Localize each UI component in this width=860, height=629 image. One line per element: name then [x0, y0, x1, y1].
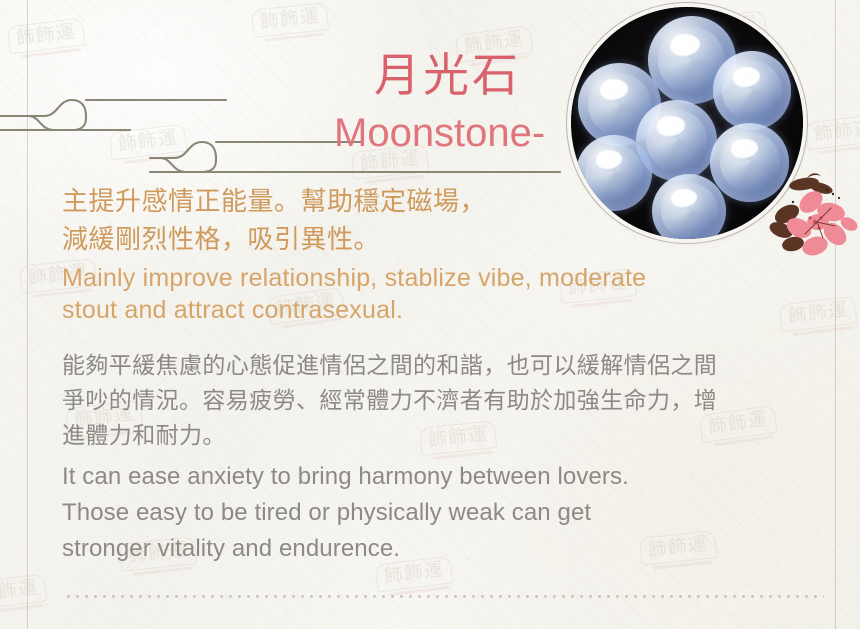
body-text-chinese: 能夠平緩焦慮的心態促進情侶之間的和諧，也可以緩解情侶之間 爭吵的情況。容易疲勞、…: [62, 349, 814, 454]
body-text-english: It can ease anxiety to bring harmony bet…: [62, 459, 822, 567]
body-zh-line-3: 進體力和耐力。: [62, 419, 814, 454]
cherry-blossom-decoration-icon: [763, 172, 859, 260]
watermark-logo: 飾飾運: [7, 17, 86, 54]
lead-en-line-2: stout and attract contrasexual.: [62, 294, 802, 326]
watermark-logo: 飾飾運: [0, 573, 47, 610]
product-info-card: 飾飾運 飾飾運 飾飾運 飾飾運 飾飾運 飾飾運 飾飾運 飾飾運 飾飾運 飾飾運 …: [0, 0, 860, 629]
body-zh-line-1: 能夠平緩焦慮的心態促進情侶之間的和諧，也可以緩解情侶之間: [62, 349, 814, 384]
page-title-chinese: 月光石: [374, 52, 521, 98]
body-en-line-3: stronger vitality and endurence.: [62, 531, 822, 567]
page-title-english: Moonstone-: [334, 113, 545, 153]
moonstone-bead: [713, 51, 792, 130]
body-zh-line-2: 爭吵的情況。容易疲勞、經常體力不濟者有助於加強生命力，增: [62, 384, 814, 419]
lead-en-line-1: Mainly improve relationship, stablize vi…: [62, 262, 802, 294]
lead-zh-line-1: 主提升感情正能量。幫助穩定磁場，: [62, 183, 762, 221]
lead-zh-line-2: 減緩剛烈性格，吸引異性。: [62, 221, 762, 259]
lead-text-english: Mainly improve relationship, stablize vi…: [62, 262, 802, 326]
watermark-logo: 飾飾運: [805, 113, 860, 150]
body-en-line-2: Those easy to be tired or physically wea…: [62, 495, 822, 531]
right-margin-rule: [835, 0, 836, 629]
body-en-line-1: It can ease anxiety to bring harmony bet…: [62, 459, 822, 495]
watermark-logo: 飾飾運: [251, 2, 330, 38]
lead-text-chinese: 主提升感情正能量。幫助穩定磁場， 減緩剛烈性格，吸引異性。: [62, 183, 762, 259]
bottom-dotted-divider: [64, 595, 824, 598]
